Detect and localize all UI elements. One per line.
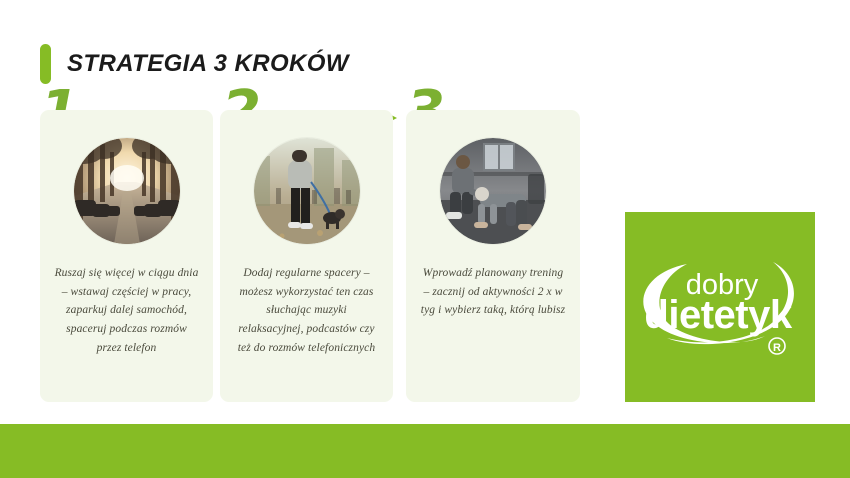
step-text-3: Wprowadź planowany trening – zacznij od … xyxy=(420,264,566,320)
svg-text:R: R xyxy=(773,342,781,354)
step-text-2: Dodaj regularne spacery – możesz wykorzy… xyxy=(234,264,379,357)
slide-title-row: STRATEGIA 3 KROKÓW xyxy=(40,44,349,84)
step-photo-1 xyxy=(74,138,180,244)
step-card-2: Dodaj regularne spacery – możesz wykorzy… xyxy=(220,110,393,402)
brand-logo: dobry dietetyk R xyxy=(625,212,815,402)
step-card-3: Wprowadź planowany trening – zacznij od … xyxy=(406,110,580,402)
step-photo-2 xyxy=(254,138,360,244)
slide-canvas: STRATEGIA 3 KROKÓW 1 xyxy=(0,0,850,478)
bottom-accent-bar xyxy=(0,424,850,478)
step-text-1: Ruszaj się więcej w ciągu dnia – wstawaj… xyxy=(54,264,199,357)
registered-trademark-icon: R xyxy=(769,338,785,354)
step-card-1: Ruszaj się więcej w ciągu dnia – wstawaj… xyxy=(40,110,213,402)
logo-word-dietetyk: dietetyk xyxy=(644,293,792,337)
page-title: STRATEGIA 3 KROKÓW xyxy=(67,50,349,78)
step-photo-3 xyxy=(440,138,546,244)
title-accent-bar xyxy=(40,44,51,84)
